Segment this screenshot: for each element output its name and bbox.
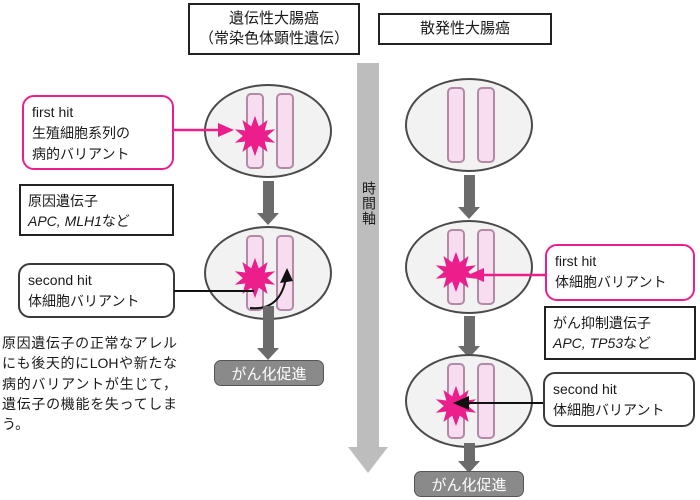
mutation-starburst-icon xyxy=(234,115,276,157)
left-gene-label: 原因遺伝子 xyxy=(28,191,165,211)
chromosome-allele-2 xyxy=(477,87,495,163)
arrow-shaft xyxy=(263,306,274,348)
arrow-shaft xyxy=(263,181,274,213)
right-gene-label: がん抑制遺伝子 xyxy=(553,313,687,333)
left-first-hit-line2: 生殖細胞系列の xyxy=(32,123,164,144)
right-second-hit-line1: second hit xyxy=(553,379,685,400)
sporadic-cell-1 xyxy=(405,78,533,172)
left-gene-names-tail: など xyxy=(102,213,130,229)
left-explanation-paragraph: 原因遺伝子の正常なアレルにも後天的にLOHや新たな病的バリアントが生じて，遺伝子… xyxy=(2,333,177,434)
sporadic-title-line1: 散発性大腸癌 xyxy=(420,19,510,39)
left-second-hit-line1: second hit xyxy=(28,270,165,291)
down-arrow-left-2 xyxy=(257,306,279,360)
right-gene-names-tail: など xyxy=(623,335,651,351)
chromosome-allele-1 xyxy=(447,87,465,163)
right-gene-names: APC, TP53など xyxy=(553,333,687,353)
outcome-pill-left: がん化促進 xyxy=(214,360,324,386)
time-axis-shaft xyxy=(357,63,379,447)
arrow-head xyxy=(257,348,279,360)
left-second-hit-line2: 体細胞バリアント xyxy=(28,291,165,312)
sporadic-title-box: 散発性大腸癌 xyxy=(378,13,552,45)
left-gene-names-italic: APC, MLH1 xyxy=(28,213,102,229)
arrow-shaft xyxy=(464,316,475,346)
second-hit-pointer-left xyxy=(248,262,294,310)
right-first-hit-callout[interactable]: first hit 体細胞バリアント xyxy=(545,244,695,301)
right-second-hit-callout[interactable]: second hit 体細胞バリアント xyxy=(543,372,695,427)
outcome-pill-right: がん化促進 xyxy=(414,471,524,497)
arrow-head xyxy=(257,213,279,225)
down-arrow-right-1 xyxy=(458,175,480,219)
down-arrow-left-1 xyxy=(257,181,279,225)
right-first-hit-line1: first hit xyxy=(555,251,685,272)
cell-membrane xyxy=(405,78,533,172)
time-axis-arrow: 時間軸 xyxy=(348,63,388,473)
down-arrow-right-3 xyxy=(458,443,480,473)
arrow-head xyxy=(458,207,480,219)
left-first-hit-callout[interactable]: first hit 生殖細胞系列の 病的バリアント xyxy=(22,95,174,170)
left-gene-box: 原因遺伝子 APC, MLH1など xyxy=(19,184,174,236)
first-hit-connector-left xyxy=(166,118,236,142)
left-gene-names: APC, MLH1など xyxy=(28,211,165,231)
hereditary-title-line1: 遺伝性大腸癌 xyxy=(229,9,319,29)
hereditary-title-box: 遺伝性大腸癌 （常染色体顕性遺伝） xyxy=(188,3,360,55)
right-first-hit-line2: 体細胞バリアント xyxy=(555,272,685,293)
arrow-shaft xyxy=(464,443,475,461)
left-second-hit-callout[interactable]: second hit 体細胞バリアント xyxy=(18,263,175,318)
second-hit-connector-left xyxy=(174,288,254,294)
chromosome-allele-2 xyxy=(276,93,294,169)
left-first-hit-line3: 病的バリアント xyxy=(32,144,164,165)
hereditary-title-line2: （常染色体顕性遺伝） xyxy=(199,29,349,49)
right-gene-box: がん抑制遺伝子 APC, TP53など xyxy=(544,306,696,360)
second-hit-connector-right xyxy=(451,391,547,415)
time-axis-label: 時間軸 xyxy=(357,181,379,226)
time-axis-arrowhead xyxy=(348,447,388,473)
left-first-hit-line1: first hit xyxy=(32,102,164,123)
arrow-shaft xyxy=(464,175,475,207)
right-gene-names-italic: APC, TP53 xyxy=(553,335,623,351)
right-second-hit-line2: 体細胞バリアント xyxy=(553,400,685,421)
down-arrow-right-2 xyxy=(458,316,480,358)
